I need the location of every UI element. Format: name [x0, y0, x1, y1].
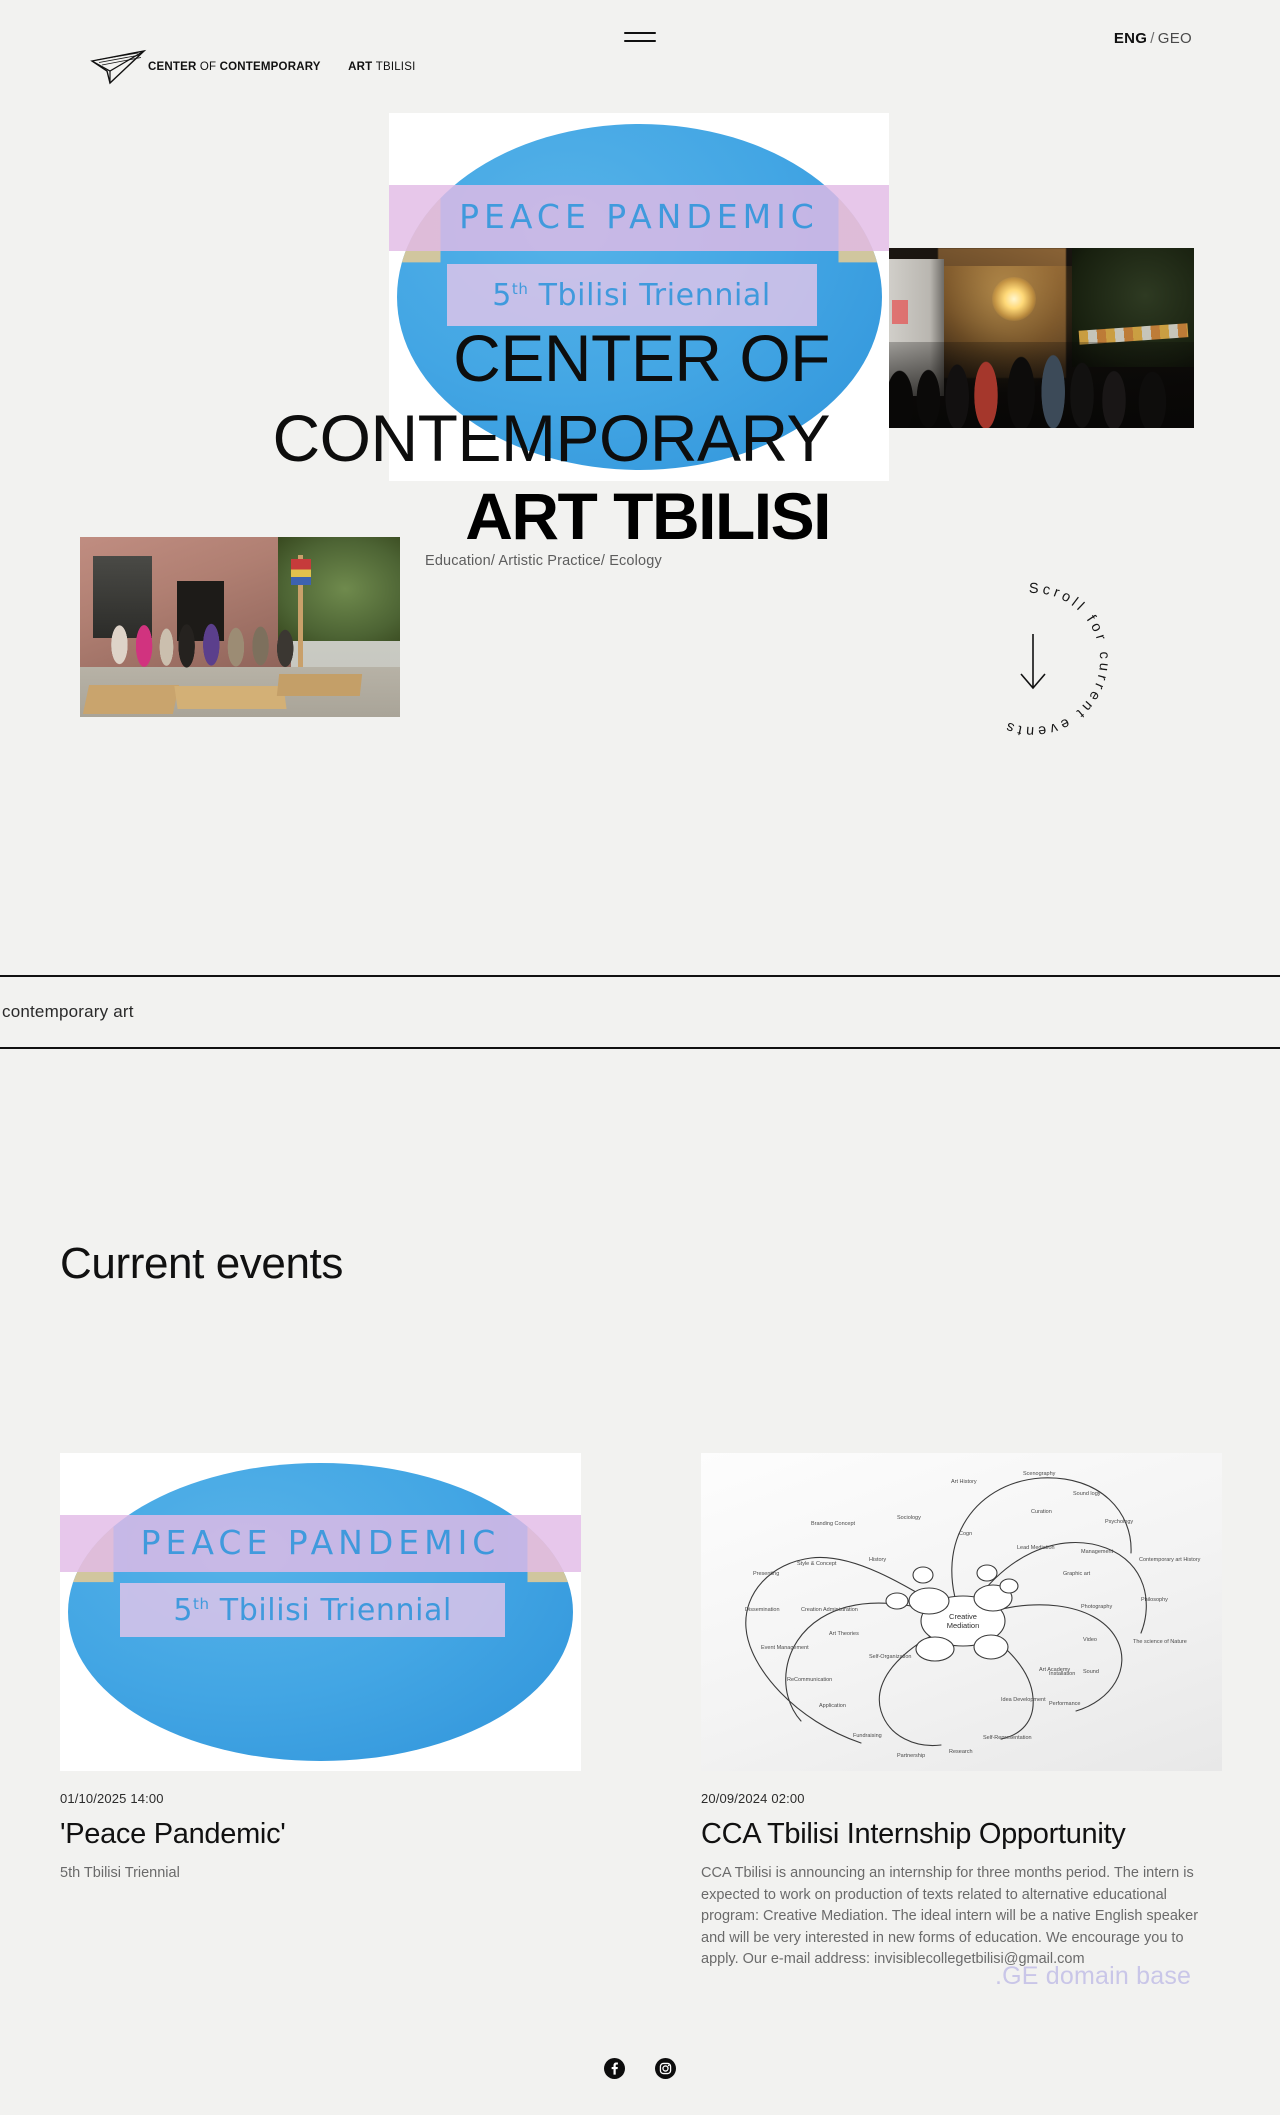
scroll-for-events-badge[interactable]: Scroll for current events	[945, 572, 1121, 748]
burger-bar-2	[624, 40, 656, 42]
event-title[interactable]: 'Peace Pandemic'	[60, 1818, 581, 1851]
logo-line-1: CENTER	[148, 61, 196, 73]
svg-text:Sound: Sound	[1083, 1669, 1099, 1675]
event-title[interactable]: CCA Tbilisi Internship Opportunity	[701, 1818, 1222, 1851]
poster-subtitle-band: 5th Tbilisi Triennial	[447, 264, 817, 327]
event-card-grid: PEACE PANDEMIC 5th Tbilisi Triennial 01/…	[60, 1453, 1220, 1971]
current-events-heading: Current events	[60, 1239, 1220, 1289]
language-switcher: ENG/GEO	[1114, 30, 1192, 47]
logo-line-3-art: ART	[348, 61, 376, 73]
event-card-image[interactable]: Creative Mediation Art History Scenograp…	[701, 1453, 1222, 1771]
scroll-badge-graphic: Scroll for current events	[945, 572, 1121, 748]
event-date: 20/09/2024 02:00	[701, 1791, 1222, 1806]
site-logo[interactable]: CENTER OF CONTEMPORARY ART TBILISI	[90, 45, 415, 85]
event-poster-title-text: PEACE PANDEMIC	[141, 1523, 501, 1562]
svg-text:Event Management: Event Management	[761, 1645, 809, 1651]
night-photo-content	[874, 248, 1194, 428]
svg-text:Mediation: Mediation	[947, 1621, 980, 1630]
current-events-section: Current events PEACE PANDEMIC 5th Tbilis…	[0, 1049, 1280, 1971]
event-poster-title-band: PEACE PANDEMIC	[60, 1515, 581, 1572]
svg-text:History: History	[869, 1557, 886, 1563]
site-footer	[0, 2045, 1280, 2115]
creative-mediation-diagram: Creative Mediation Art History Scenograp…	[701, 1453, 1222, 1771]
facebook-link[interactable]	[604, 2058, 625, 2079]
svg-text:Presenting: Presenting	[753, 1571, 779, 1577]
event-date: 01/10/2025 14:00	[60, 1791, 581, 1806]
event-poster-subtitle-text: 5th Tbilisi Triennial	[173, 1593, 452, 1628]
svg-text:Scenography: Scenography	[1023, 1471, 1056, 1477]
event-card-internship[interactable]: Creative Mediation Art History Scenograp…	[701, 1453, 1222, 1971]
svg-text:Cogn: Cogn	[959, 1531, 972, 1537]
hero-night-photo[interactable]	[874, 248, 1194, 428]
svg-text:Sociology: Sociology	[897, 1515, 921, 1521]
svg-text:ReCommunication: ReCommunication	[787, 1677, 832, 1683]
poster-subtitle-text: 5th Tbilisi Triennial	[492, 278, 771, 313]
svg-text:Dissemination: Dissemination	[745, 1607, 780, 1613]
event-description: 5th Tbilisi Triennial	[60, 1863, 580, 1884]
marquee-band: contemporary art	[0, 975, 1280, 1049]
instagram-icon	[655, 2058, 676, 2079]
event-poster-subtitle-band: 5th Tbilisi Triennial	[120, 1583, 506, 1637]
event-poster-artwork: PEACE PANDEMIC 5th Tbilisi Triennial	[60, 1453, 581, 1771]
svg-text:Partnership: Partnership	[897, 1753, 925, 1759]
svg-text:Contemporary art History: Contemporary art History	[1139, 1557, 1201, 1563]
poster-title-text: PEACE PANDEMIC	[459, 197, 819, 236]
instagram-link[interactable]	[655, 2058, 676, 2079]
language-option-geo[interactable]: GEO	[1158, 30, 1192, 47]
burger-bar-1	[624, 32, 656, 34]
svg-text:Fundraising: Fundraising	[853, 1733, 882, 1739]
event-card-peace-pandemic[interactable]: PEACE PANDEMIC 5th Tbilisi Triennial 01/…	[60, 1453, 581, 1971]
arrow-down-icon	[1021, 634, 1045, 688]
svg-text:Lead Mediation: Lead Mediation	[1017, 1545, 1055, 1551]
svg-text:Self-Representation: Self-Representation	[983, 1735, 1032, 1741]
svg-text:Art Academy: Art Academy	[1039, 1667, 1070, 1673]
logo-line-3-city: TBILISI	[376, 61, 416, 73]
hero-poster-image[interactable]: PEACE PANDEMIC 5th Tbilisi Triennial	[389, 113, 889, 481]
site-header: CENTER OF CONTEMPORARY ART TBILISI ENG/G…	[0, 0, 1280, 110]
logo-wordmark: CENTER OF CONTEMPORARY ART TBILISI	[148, 45, 415, 75]
diagram-graphic: Creative Mediation Art History Scenograp…	[701, 1453, 1222, 1771]
svg-text:Creation Administration: Creation Administration	[801, 1607, 858, 1613]
svg-text:Psychology: Psychology	[1105, 1519, 1133, 1525]
svg-text:Management: Management	[1081, 1549, 1114, 1555]
svg-text:Video: Video	[1083, 1637, 1097, 1643]
poster-title-band: PEACE PANDEMIC	[389, 185, 889, 251]
day-photo-content	[80, 537, 400, 717]
page-root: CENTER OF CONTEMPORARY ART TBILISI ENG/G…	[0, 0, 1280, 2115]
language-option-eng[interactable]: ENG	[1114, 30, 1147, 47]
svg-text:Self-Organization: Self-Organization	[869, 1654, 912, 1660]
event-description: CCA Tbilisi is announcing an internship …	[701, 1863, 1221, 1970]
poster-artwork: PEACE PANDEMIC 5th Tbilisi Triennial	[389, 113, 889, 481]
svg-text:Philosophy: Philosophy	[1141, 1597, 1168, 1603]
scroll-badge-text: Scroll for current events	[1001, 581, 1112, 739]
hero-day-photo[interactable]	[80, 537, 400, 717]
svg-text:Idea Development: Idea Development	[1001, 1697, 1046, 1703]
svg-text:Art Theories: Art Theories	[829, 1631, 859, 1637]
svg-text:The science of Nature: The science of Nature	[1133, 1639, 1187, 1645]
event-card-image[interactable]: PEACE PANDEMIC 5th Tbilisi Triennial	[60, 1453, 581, 1771]
svg-text:Branding Concept: Branding Concept	[811, 1521, 856, 1527]
language-separator: /	[1147, 30, 1157, 47]
marquee-text: contemporary art	[0, 1002, 134, 1022]
paper-plane-icon	[90, 49, 148, 85]
logo-line-2-of: OF	[200, 61, 220, 73]
domain-watermark: .GE domain base	[995, 1962, 1191, 1991]
svg-text:Art History: Art History	[951, 1479, 977, 1485]
svg-text:Graphic art: Graphic art	[1063, 1571, 1091, 1577]
svg-text:Sound logy: Sound logy	[1073, 1491, 1101, 1497]
facebook-icon	[604, 2058, 625, 2079]
hamburger-menu-icon[interactable]	[624, 32, 656, 48]
logo-line-2: CONTEMPORARY	[220, 61, 321, 73]
svg-text:Performance: Performance	[1049, 1701, 1081, 1707]
svg-text:Application: Application	[819, 1703, 846, 1709]
svg-text:Photography: Photography	[1081, 1604, 1112, 1610]
svg-text:Curation: Curation	[1031, 1509, 1052, 1515]
hero-subtitle: Education/ Artistic Practice/ Ecology	[425, 553, 662, 569]
svg-text:Style & Concept: Style & Concept	[797, 1561, 837, 1567]
svg-text:Creative: Creative	[949, 1612, 977, 1621]
svg-text:Research: Research	[949, 1749, 973, 1755]
hero-section: PEACE PANDEMIC 5th Tbilisi Triennial	[0, 0, 1280, 960]
